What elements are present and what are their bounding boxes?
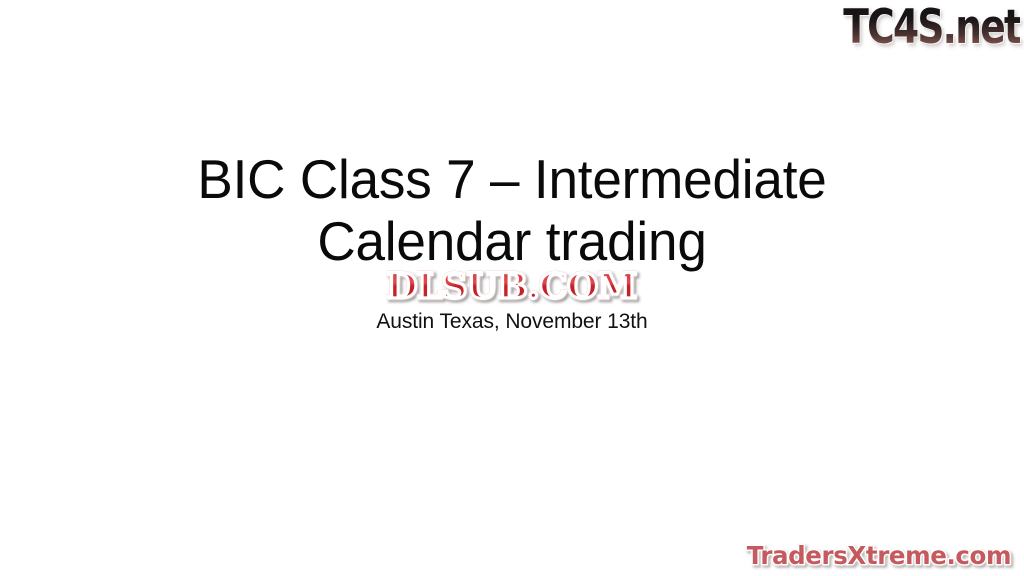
- slide-title-line-1: BIC Class 7 – Intermediate: [18, 148, 1006, 210]
- watermark-tc4s-net: TC4S.net: [843, 0, 1020, 56]
- watermark-tradersxtreme-com: TradersXtreme.com: [744, 541, 1014, 570]
- slide-title: BIC Class 7 – Intermediate Calendar trad…: [0, 148, 1024, 272]
- slide-title-line-2: Calendar trading: [18, 210, 1006, 272]
- slide-subtitle: Austin Texas, November 13th: [0, 309, 1024, 334]
- presentation-slide: TC4S.net BIC Class 7 – Intermediate Cale…: [0, 0, 1024, 576]
- watermark-dlsub-com: DLSUB.COM: [0, 268, 1024, 306]
- watermark-tradersxtreme-com-text: TradersXtreme.com: [747, 541, 1011, 570]
- watermark-dlsub-com-text: DLSUB.COM: [387, 268, 637, 306]
